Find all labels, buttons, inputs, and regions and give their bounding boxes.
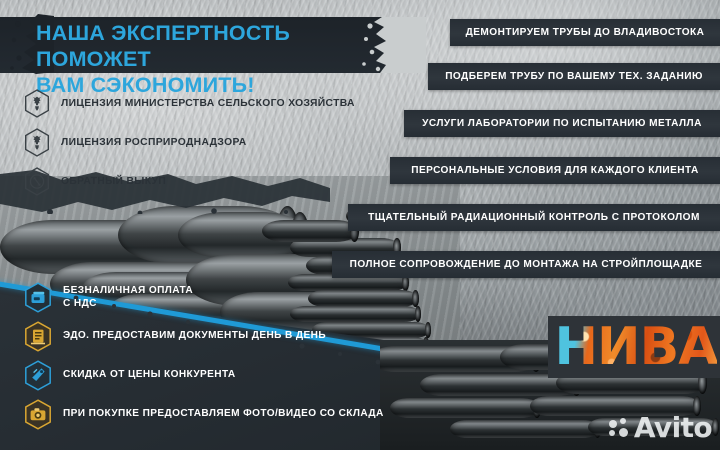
service-strip[interactable]: ТЩАТЕЛЬНЫЙ РАДИАЦИОННЫЙ КОНТРОЛЬ С ПРОТО… (348, 204, 720, 231)
service-strip[interactable]: ПОЛНОЕ СОПРОВОЖДЕНИЕ ДО МОНТАЖА НА СТРОЙ… (332, 251, 720, 278)
coat-of-arms-icon (24, 128, 50, 157)
service-strip-label: УСЛУГИ ЛАБОРАТОРИИ ПО ИСПЫТАНИЮ МЕТАЛЛА (408, 118, 716, 129)
service-strip-label: ДЕМОНТИРУЕМ ТРУБЫ ДО ВЛАДИВОСТОКА (452, 27, 719, 38)
license-item[interactable]: ОБРАТНЫЙ ВЫКУП (24, 164, 355, 198)
cashless-payment-icon (24, 282, 52, 313)
benefit-item[interactable]: БЕЗНАЛИЧНАЯ ОПЛАТА С НДС (24, 282, 384, 313)
advertisement-banner: ДЕМОНТИРУЕМ ТРУБЫ ДО ВЛАДИВОСТОКА ПОДБЕР… (0, 0, 720, 450)
brand-logo-text: НИВА (555, 321, 718, 373)
license-list: ЛИЦЕНЗИЯ МИНИСТЕРСТВА СЕЛЬСКОГО ХОЗЯЙСТВ… (24, 86, 355, 203)
avito-watermark: Avito (609, 414, 712, 442)
benefit-label: ЭДО. ПРЕДОСТАВИМ ДОКУМЕНТЫ ДЕНЬ В ДЕНЬ (63, 330, 326, 343)
brand-logo[interactable]: НИВА (548, 316, 720, 378)
license-label: ЛИЦЕНЗИЯ РОСПРИРОДНАДЗОРА (61, 137, 247, 148)
service-strip-label: ПОЛНОЕ СОПРОВОЖДЕНИЕ ДО МОНТАЖА НА СТРОЙ… (336, 259, 717, 270)
benefit-item[interactable]: ЭДО. ПРЕДОСТАВИМ ДОКУМЕНТЫ ДЕНЬ В ДЕНЬ (24, 321, 384, 352)
buyback-arrows-icon (24, 167, 50, 196)
service-strip[interactable]: ПЕРСОНАЛЬНЫЕ УСЛОВИЯ ДЛЯ КАЖДОГО КЛИЕНТА (390, 157, 720, 184)
camera-photo-video-icon (24, 399, 52, 430)
benefit-label: БЕЗНАЛИЧНАЯ ОПЛАТА С НДС (63, 285, 193, 310)
service-strip[interactable]: УСЛУГИ ЛАБОРАТОРИИ ПО ИСПЫТАНИЮ МЕТАЛЛА (404, 110, 720, 137)
benefit-label-line-2: С НДС (63, 298, 97, 309)
license-item[interactable]: ЛИЦЕНЗИЯ РОСПРИРОДНАДЗОРА (24, 125, 355, 159)
price-tag-discount-icon (24, 360, 52, 391)
benefit-list: БЕЗНАЛИЧНАЯ ОПЛАТА С НДС ЭДО. ПРЕДОСТАВИ… (24, 282, 384, 438)
document-exchange-icon (24, 321, 52, 352)
avito-wordmark: Avito (634, 414, 712, 442)
avito-dots-icon (609, 417, 631, 439)
benefit-label: ПРИ ПОКУПКЕ ПРЕДОСТАВЛЯЕМ ФОТО/ВИДЕО СО … (63, 408, 384, 421)
service-strip-label: ТЩАТЕЛЬНЫЙ РАДИАЦИОННЫЙ КОНТРОЛЬ С ПРОТО… (354, 212, 714, 223)
license-label: ОБРАТНЫЙ ВЫКУП (61, 176, 166, 187)
service-strip[interactable]: ДЕМОНТИРУЕМ ТРУБЫ ДО ВЛАДИВОСТОКА (450, 19, 720, 46)
headline-line-1: НАША ЭКСПЕРТНОСТЬ ПОМОЖЕТ (36, 20, 396, 72)
coat-of-arms-icon (24, 89, 50, 118)
benefit-label: СКИДКА ОТ ЦЕНЫ КОНКУРЕНТА (63, 369, 236, 382)
benefit-item[interactable]: ПРИ ПОКУПКЕ ПРЕДОСТАВЛЯЕМ ФОТО/ВИДЕО СО … (24, 399, 384, 430)
benefit-label-line-1: БЕЗНАЛИЧНАЯ ОПЛАТА (63, 285, 193, 296)
service-strip[interactable]: ПОДБЕРЕМ ТРУБУ ПО ВАШЕМУ ТЕХ. ЗАДАНИЮ (428, 63, 720, 90)
license-item[interactable]: ЛИЦЕНЗИЯ МИНИСТЕРСТВА СЕЛЬСКОГО ХОЗЯЙСТВ… (24, 86, 355, 120)
service-strip-label: ПЕРСОНАЛЬНЫЕ УСЛОВИЯ ДЛЯ КАЖДОГО КЛИЕНТА (397, 165, 713, 176)
benefit-item[interactable]: СКИДКА ОТ ЦЕНЫ КОНКУРЕНТА (24, 360, 384, 391)
license-label: ЛИЦЕНЗИЯ МИНИСТЕРСТВА СЕЛЬСКОГО ХОЗЯЙСТВ… (61, 98, 355, 109)
service-strip-label: ПОДБЕРЕМ ТРУБУ ПО ВАШЕМУ ТЕХ. ЗАДАНИЮ (431, 71, 717, 82)
